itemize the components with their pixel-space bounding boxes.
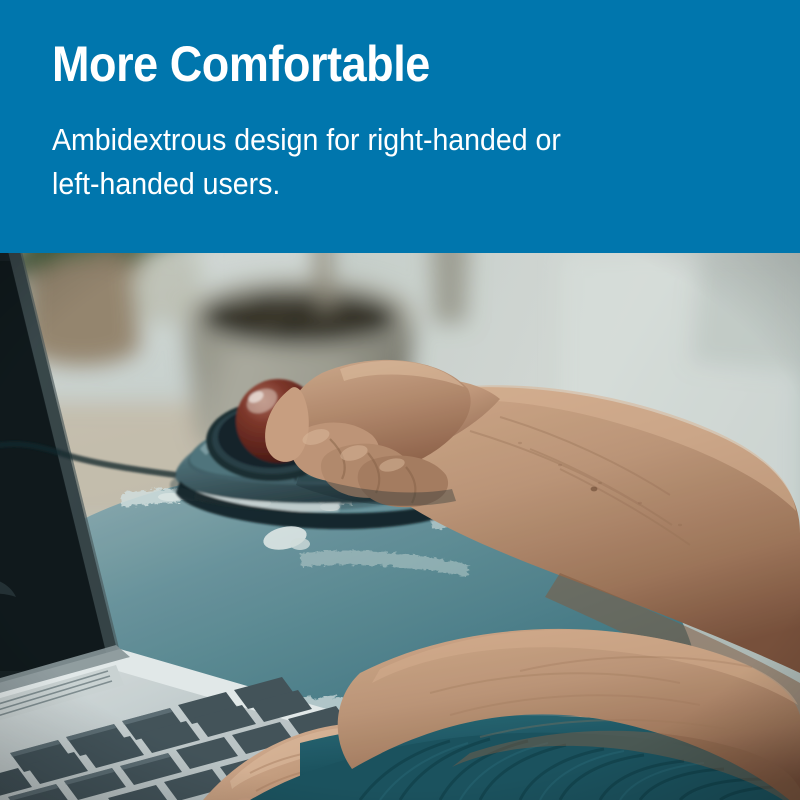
page-title: More Comfortable [52,38,430,91]
banner-subtitle-line-2: left-handed users. [52,162,696,206]
banner-subtitle-line-1: Ambidextrous design for right-handed or [52,118,696,162]
banner-header: More Comfortable Ambidextrous design for… [0,0,800,253]
product-lifestyle-photo [0,253,800,800]
photo-illustration [0,253,800,800]
banner-subtitle: Ambidextrous design for right-handed or … [52,118,696,206]
product-feature-banner: More Comfortable Ambidextrous design for… [0,0,800,800]
photo-vignette [0,253,800,800]
